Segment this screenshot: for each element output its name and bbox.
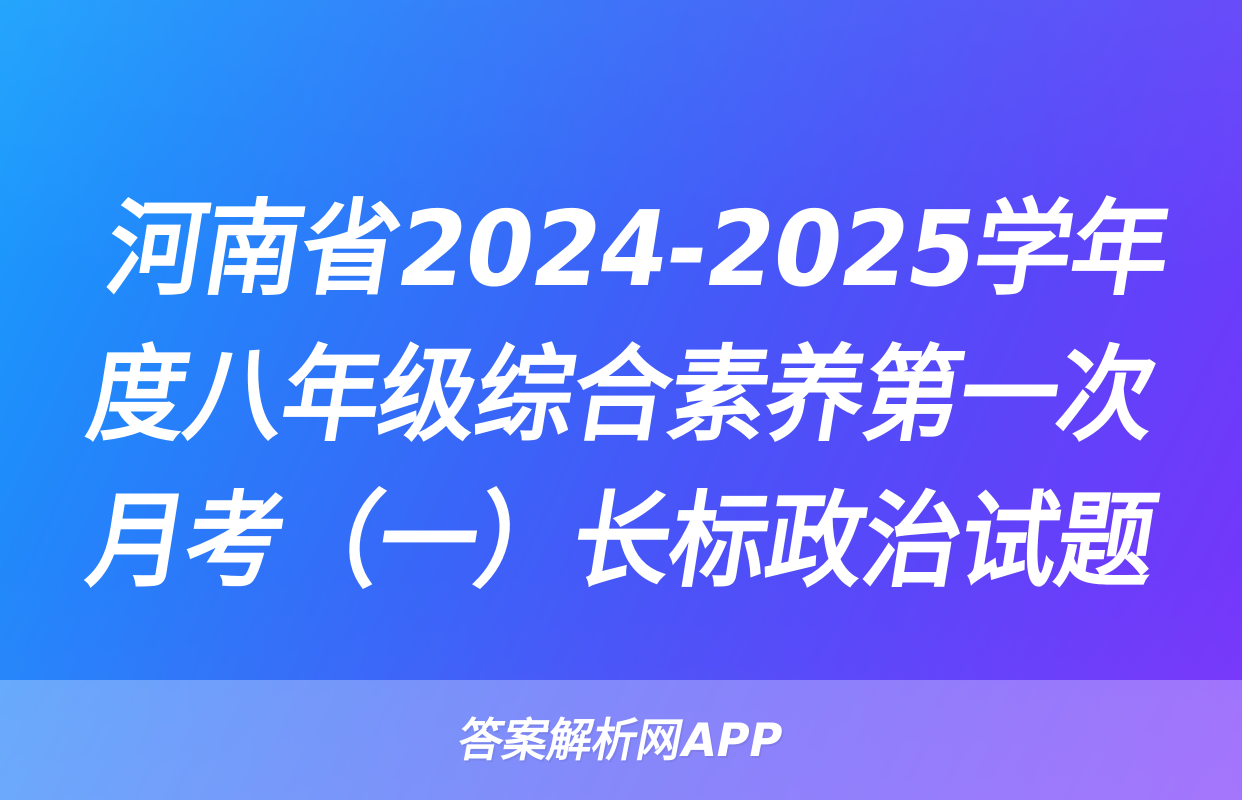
exam-title-line-2: 度八年级综合素养第一次	[72, 322, 1110, 468]
exam-title-block: 河南省2024-2025学年 度八年级综合素养第一次 月考（一）长标政治试题	[84, 176, 1164, 614]
exam-title-line-3: 月考（一）长标政治试题	[72, 468, 1110, 614]
title-card: 河南省2024-2025学年 度八年级综合素养第一次 月考（一）长标政治试题 答…	[0, 0, 1242, 800]
watermark-band: 答案解析网APP	[0, 680, 1242, 800]
app-watermark-label: 答案解析网APP	[455, 717, 787, 763]
exam-title-line-1: 河南省2024-2025学年	[72, 176, 1110, 322]
